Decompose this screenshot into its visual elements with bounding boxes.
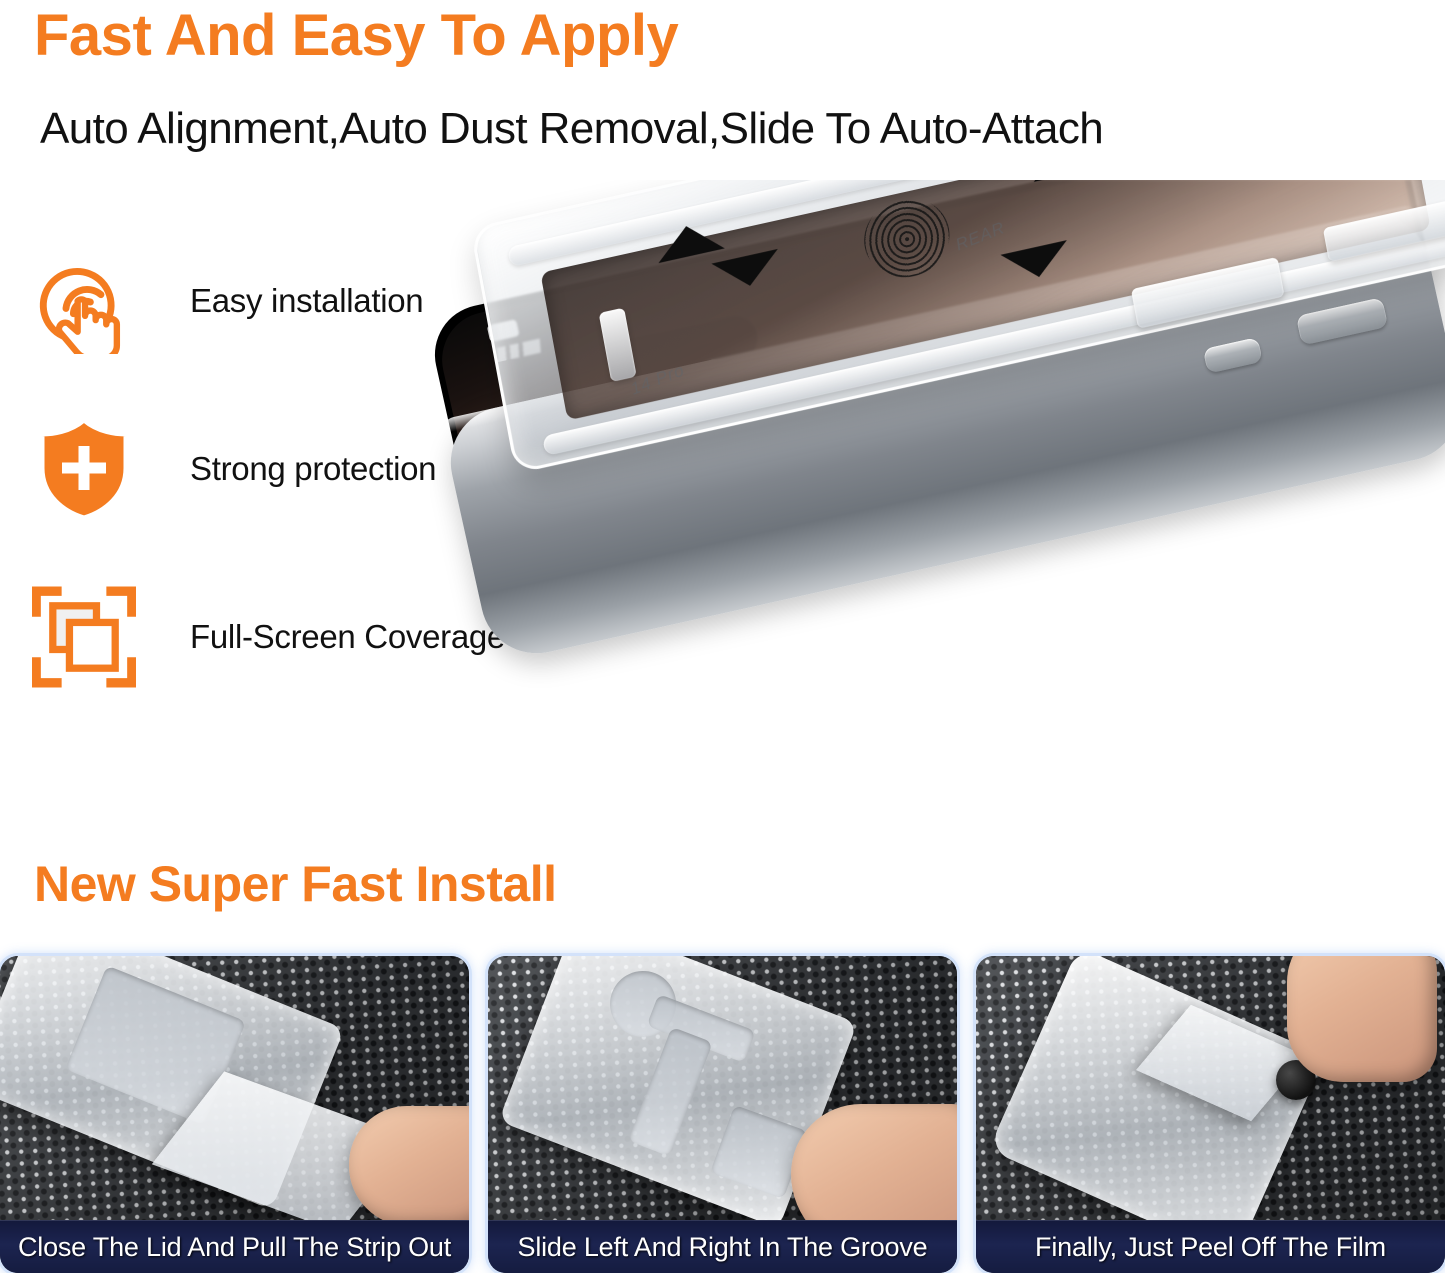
step-caption-text: Finally, Just Peel Off The Film (1035, 1232, 1386, 1263)
feature-item-easy-installation: Easy installation (28, 246, 498, 356)
install-step-3: Finally, Just Peel Off The Film (976, 956, 1445, 1273)
hand (1287, 956, 1437, 1082)
hand (349, 1106, 469, 1226)
full-screen-frame-icon (28, 581, 140, 693)
feature-item-strong-protection: Strong protection (28, 414, 498, 524)
install-step-2: Slide Left And Right In The Groove (488, 956, 957, 1273)
hero-product-image: MEFISH 14 Pro REAR (430, 180, 1445, 800)
feature-item-full-screen-coverage: Full-Screen Coverage (28, 582, 498, 692)
step-caption-bar: Slide Left And Right In The Groove (488, 1220, 957, 1273)
step-caption-text: Slide Left And Right In The Groove (518, 1232, 928, 1263)
feature-label: Easy installation (190, 282, 423, 320)
touch-gesture-icon (28, 245, 140, 357)
page-subtitle: Auto Alignment,Auto Dust Removal,Slide T… (40, 104, 1103, 154)
feature-list: Easy installation Strong protection (28, 246, 498, 750)
feature-label: Strong protection (190, 450, 436, 488)
step-caption-bar: Finally, Just Peel Off The Film (976, 1220, 1445, 1273)
install-section-title: New Super Fast Install (34, 855, 556, 913)
step-caption-text: Close The Lid And Pull The Strip Out (18, 1232, 451, 1263)
page-title: Fast And Easy To Apply (34, 2, 678, 69)
shield-plus-icon (28, 413, 140, 525)
install-steps: Close The Lid And Pull The Strip Out Sli… (0, 956, 1445, 1273)
install-step-1: Close The Lid And Pull The Strip Out (0, 956, 469, 1273)
step-caption-bar: Close The Lid And Pull The Strip Out (0, 1220, 469, 1273)
groove-channel (628, 1027, 713, 1157)
